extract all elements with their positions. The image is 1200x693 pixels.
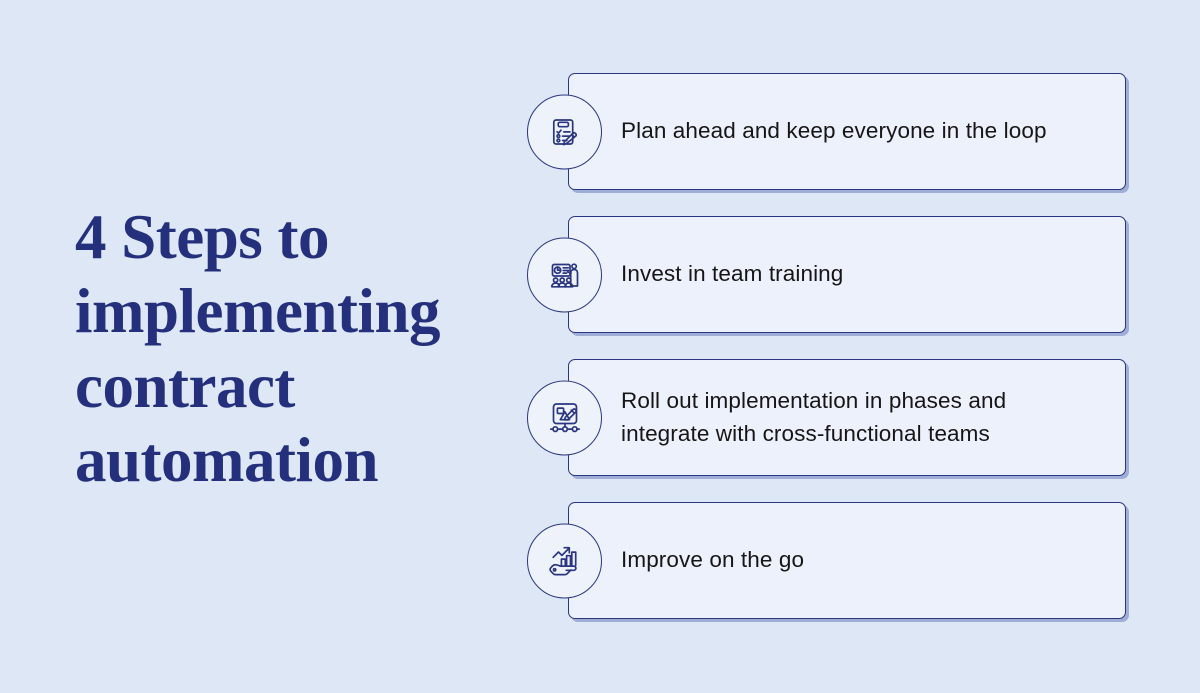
title-block: 4 Steps to implementing contract automat… xyxy=(75,200,505,497)
training-presentation-icon xyxy=(527,237,602,312)
step-label-3: Roll out implementation in phases and in… xyxy=(569,385,1125,450)
list-item: Roll out implementation in phases and in… xyxy=(527,359,1127,476)
hand-growth-chart-icon xyxy=(527,523,602,598)
page-title: 4 Steps to implementing contract automat… xyxy=(75,200,505,497)
list-item: Improve on the go xyxy=(527,502,1127,619)
step-card-3[interactable]: Roll out implementation in phases and in… xyxy=(568,359,1126,476)
design-workflow-nodes-icon xyxy=(527,380,602,455)
list-item: Plan ahead and keep everyone in the loop xyxy=(527,73,1127,190)
step-card-4[interactable]: Improve on the go xyxy=(568,502,1126,619)
clipboard-checklist-pencil-icon xyxy=(527,94,602,169)
list-item: Invest in team training xyxy=(527,216,1127,333)
step-card-1[interactable]: Plan ahead and keep everyone in the loop xyxy=(568,73,1126,190)
infographic-canvas: 4 Steps to implementing contract automat… xyxy=(0,0,1200,693)
steps-list: Plan ahead and keep everyone in the loop xyxy=(527,73,1127,619)
step-label-2: Invest in team training xyxy=(569,258,869,291)
step-label-4: Improve on the go xyxy=(569,544,830,577)
step-label-1: Plan ahead and keep everyone in the loop xyxy=(569,115,1073,148)
step-card-2[interactable]: Invest in team training xyxy=(568,216,1126,333)
